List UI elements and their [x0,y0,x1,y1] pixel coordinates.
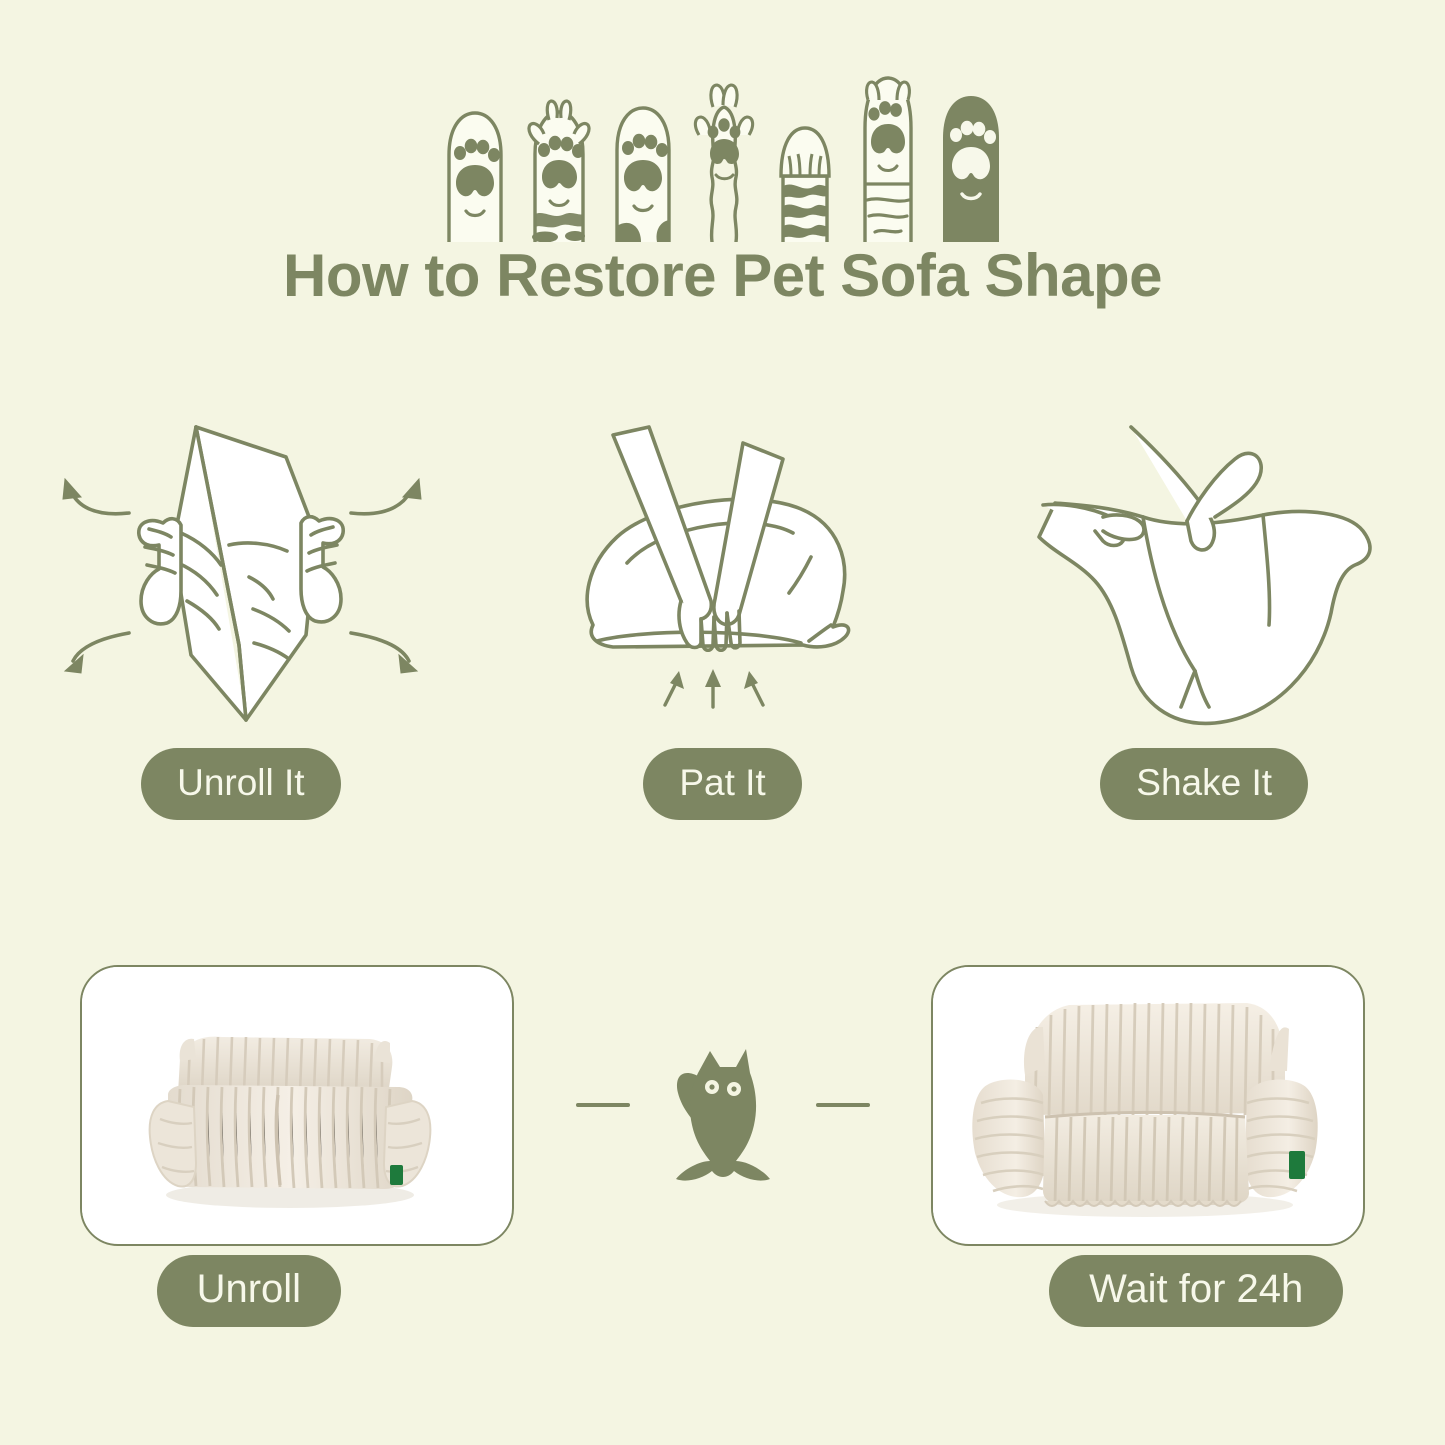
unroll-illustration [41,400,441,740]
page-title: How to Restore Pet Sofa Shape [0,243,1445,309]
step-shake-it: Shake It [963,400,1445,840]
photo-card-before [80,965,514,1246]
paw-icon-1 [439,107,511,242]
label-cell-middle [486,1255,960,1335]
pat-illustration [553,400,893,740]
step-unroll-it: Unroll It [0,400,482,840]
paw-icon-7 [935,90,1007,242]
label-cell-after: Wait for 24h [959,1255,1445,1335]
compressed-bed-photo [82,967,508,1240]
comparison-row [0,960,1445,1250]
label-cell-before: Unroll [0,1255,486,1335]
restored-sofa-photo [933,967,1359,1240]
brand-tag [390,1165,403,1185]
comparison-divider [514,960,931,1250]
divider-dash-right [816,1103,870,1107]
photo-card-after [931,965,1365,1246]
steps-row: Unroll It [0,400,1445,840]
comparison-label-wait: Wait for 24h [1049,1255,1343,1327]
paw-icon-3 [607,100,679,242]
paw-icon-5 [769,114,841,242]
paw-icon-4 [685,77,763,242]
cat-silhouette-wrap [664,1021,782,1189]
step-label-unroll-it: Unroll It [141,748,340,820]
step-label-shake-it: Shake It [1100,748,1308,820]
step-pat-it: Pat It [482,400,964,840]
brand-tag [1289,1151,1305,1179]
step-label-pat-it: Pat It [643,748,801,820]
divider-dash-left [576,1103,630,1107]
cat-paws-row [0,62,1445,242]
comparison-labels-row: Unroll Wait for 24h [0,1255,1445,1335]
paw-icon-6 [847,70,929,242]
sitting-cat-icon [664,1021,782,1189]
comparison-label-unroll: Unroll [157,1255,341,1327]
paw-icon-2 [517,94,601,242]
shake-illustration [1019,400,1389,740]
